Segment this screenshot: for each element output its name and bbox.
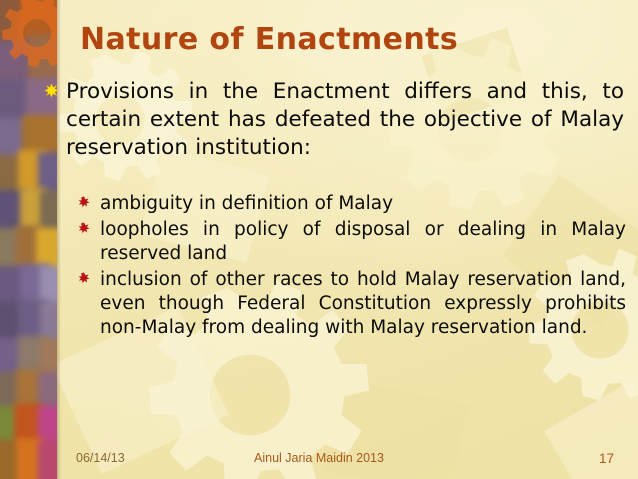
page-title: Nature of Enactments	[80, 22, 600, 58]
gear-icon	[0, 0, 57, 76]
art-strip-edge	[57, 0, 61, 479]
red-star-bullet-icon	[78, 222, 90, 234]
slide-canvas: Nature of Enactments Provisions in the E…	[0, 0, 638, 479]
list-item: loopholes in policy of disposal or deali…	[78, 218, 626, 266]
list-item: ambiguity in definition of Malay	[78, 192, 626, 216]
lead-paragraph-text: Provisions in the Enactment differs and …	[66, 79, 624, 160]
red-star-bullet-icon	[78, 196, 90, 208]
lead-paragraph-block: Provisions in the Enactment differs and …	[66, 78, 624, 162]
footer-author: Ainul Jaria Maidin 2013	[0, 451, 638, 465]
list-item: inclusion of other races to hold Malay r…	[78, 268, 626, 340]
yellow-star-bullet-icon	[44, 83, 59, 98]
red-star-bullet-icon	[78, 272, 90, 284]
sub-bullet-list: ambiguity in definition of Malay loophol…	[78, 192, 626, 342]
list-item-text: inclusion of other races to hold Malay r…	[100, 269, 626, 338]
list-item-text: loopholes in policy of disposal or deali…	[100, 219, 626, 264]
list-item-text: ambiguity in definition of Malay	[100, 193, 393, 214]
decorative-art-strip	[0, 0, 57, 479]
footer-page-number: 17	[599, 451, 614, 466]
slide-footer: 06/14/13 Ainul Jaria Maidin 2013 17	[0, 451, 638, 471]
